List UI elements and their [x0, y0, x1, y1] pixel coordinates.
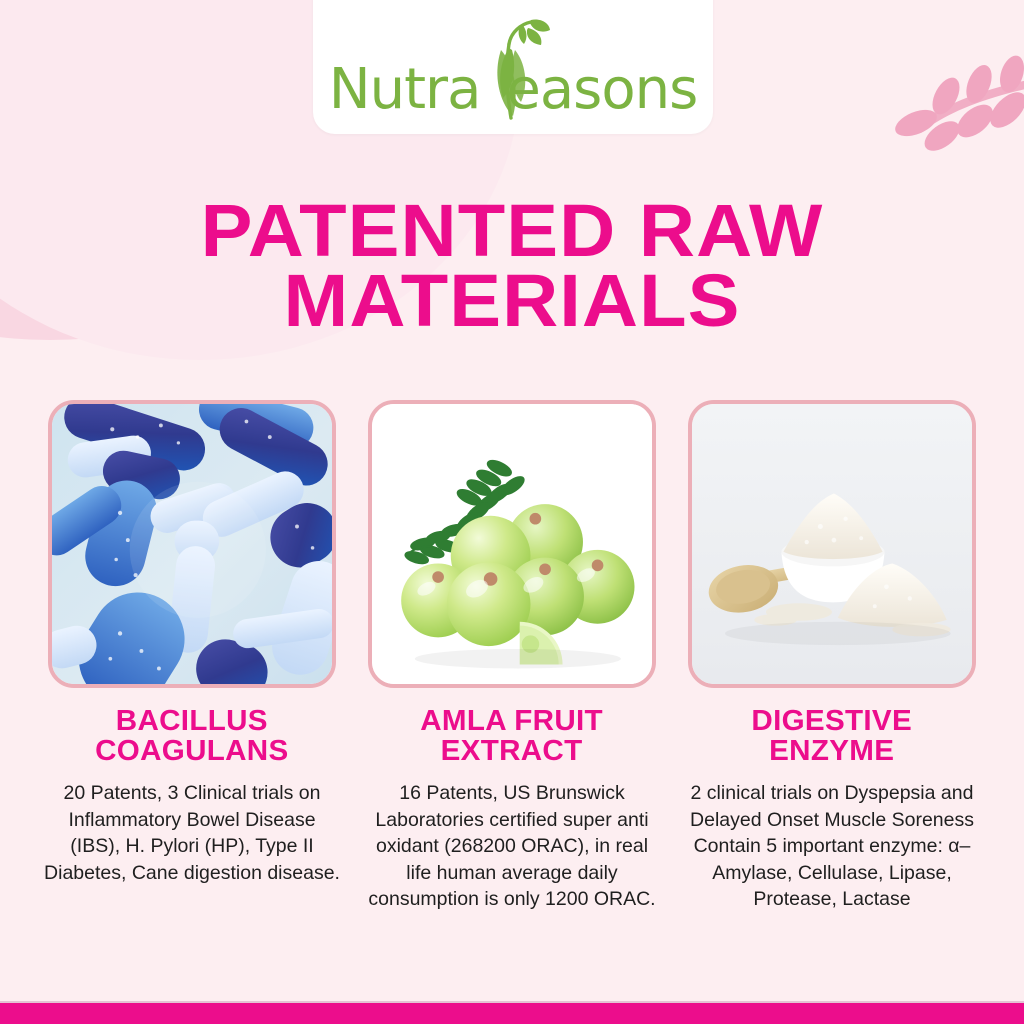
- poster-root: Nutraeasons PATENTED RAW MATERIALS: [0, 0, 1024, 1024]
- ingredient-description-amla-fruit-extract: 16 Patents, US Brunswick Laboratories ce…: [364, 780, 660, 913]
- ingredient-description-digestive-enzyme: 2 clinical trials on Dyspepsia and Delay…: [679, 780, 985, 913]
- ingredient-title-line1: DIGESTIVE: [752, 705, 913, 737]
- brand-name-part1: Nutra: [329, 57, 481, 122]
- ingredient-card-row: BACILLUS COAGULANS 20 Patents, 3 Clinica…: [0, 400, 1024, 913]
- footer-bar: [0, 1003, 1024, 1024]
- leaf-branch-icon: [880, 48, 1024, 178]
- ingredient-title-line2: ENZYME: [769, 735, 894, 767]
- ingredient-title-bacillus-coagulans: BACILLUS COAGULANS: [95, 706, 288, 766]
- page-title-line2: MATERIALS: [0, 266, 1024, 336]
- digestive-enzyme-powder-photo: [688, 400, 976, 688]
- bacillus-coagulans-bacteria-photo: [48, 400, 336, 688]
- ingredient-title-line1: AMLA FRUIT: [421, 705, 604, 737]
- ingredient-title-line2: EXTRACT: [441, 735, 583, 767]
- ingredient-title-line1: BACILLUS: [116, 705, 268, 737]
- brand-logo-card: Nutraeasons: [313, 0, 713, 134]
- brand-name-part2: easons: [506, 57, 697, 122]
- ingredient-title-line2: COAGULANS: [95, 735, 288, 767]
- ingredient-card-bacillus-coagulans: BACILLUS COAGULANS 20 Patents, 3 Clinica…: [46, 400, 338, 913]
- page-title: PATENTED RAW MATERIALS: [0, 196, 1024, 335]
- ingredient-card-amla-fruit-extract: AMLA FRUIT EXTRACT 16 Patents, US Brunsw…: [366, 400, 658, 913]
- ingredient-description-bacillus-coagulans: 20 Patents, 3 Clinical trials on Inflamm…: [42, 780, 342, 886]
- ingredient-card-digestive-enzyme: DIGESTIVE ENZYME 2 clinical trials on Dy…: [686, 400, 978, 913]
- ingredient-title-digestive-enzyme: DIGESTIVE ENZYME: [752, 706, 913, 766]
- ingredient-title-amla-fruit-extract: AMLA FRUIT EXTRACT: [421, 706, 604, 766]
- brand-logo: Nutraeasons: [313, 62, 713, 118]
- amla-fruit-photo: [368, 400, 656, 688]
- brand-name: Nutraeasons: [329, 62, 698, 118]
